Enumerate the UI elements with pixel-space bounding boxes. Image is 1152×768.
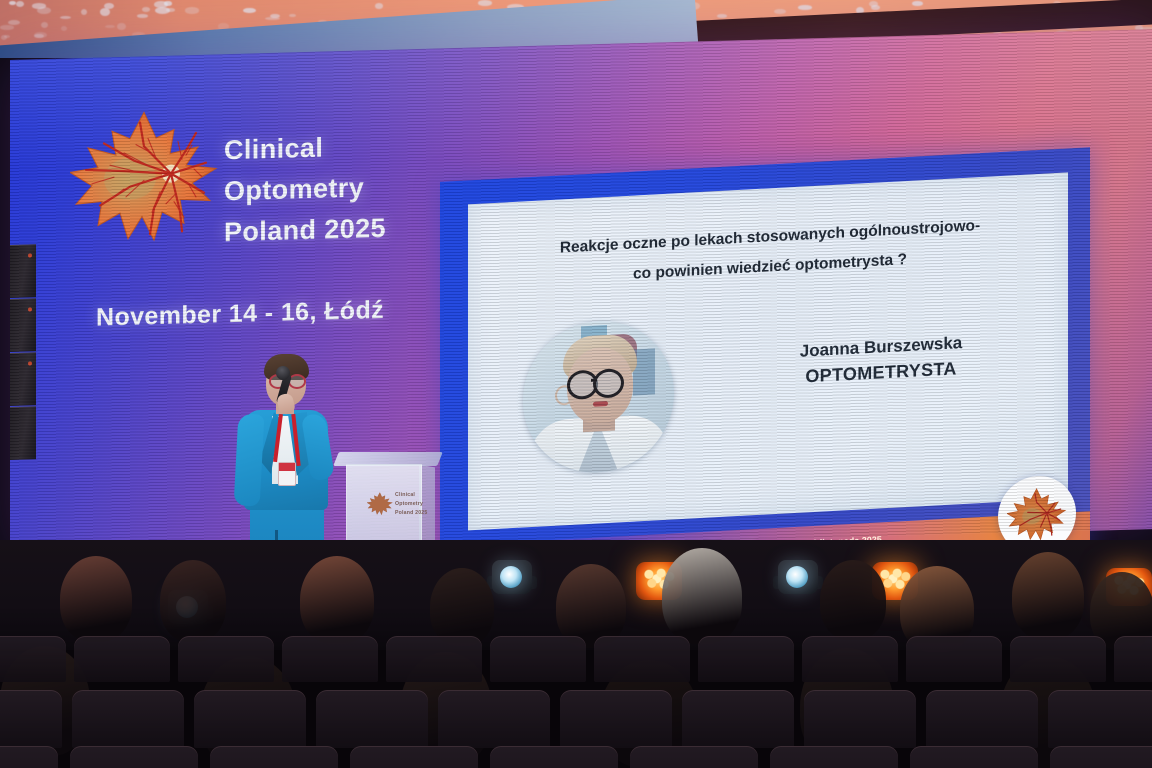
portrait-glasses-right (593, 368, 624, 399)
maple-leaf-retina-logo (70, 106, 220, 250)
ceiling-light-dot (105, 25, 115, 28)
audience-seat (906, 636, 1002, 682)
audience-seat (802, 636, 898, 682)
slide-speaker-role: OPTOMETRYSTA (718, 354, 1044, 392)
audience-seat (74, 636, 170, 682)
ceiling-light-dot (774, 9, 786, 14)
portrait-wall-art (581, 325, 607, 360)
lectern-text: Clinical Optometry Poland 2025 (395, 491, 429, 518)
ceiling-light-dot (185, 7, 200, 13)
brand-title-line-1: Clinical (224, 123, 474, 171)
ceiling-light-dot (798, 5, 812, 9)
conference-photo: Clinical Optometry Poland 2025 November … (0, 0, 1152, 768)
audience-seat (72, 690, 184, 748)
audience-seat (386, 636, 482, 682)
brand-title-line-2: Optometry (224, 164, 474, 212)
pa-status-led (28, 253, 32, 257)
slide-title-line-1: Reakcje oczne po lekach stosowanych ogól… (492, 208, 1048, 268)
ceiling-light-dot (37, 7, 51, 14)
audience-seat (210, 746, 338, 768)
pa-status-led (28, 307, 32, 311)
audience-member (430, 568, 494, 646)
audience-seat (770, 746, 898, 768)
audience-area (0, 540, 1152, 768)
audience-member (160, 560, 226, 642)
portrait-lips (593, 401, 608, 407)
ceiling-light-dot (912, 1, 923, 5)
ceiling-light-dot (375, 3, 383, 8)
lectern-text-line-3: Poland 2025 (395, 509, 429, 518)
ceiling-light-dot (155, 7, 170, 14)
audience-seat (698, 636, 794, 682)
audience-seat (560, 690, 672, 748)
pa-speaker-box (10, 244, 36, 298)
audience-seat (0, 636, 66, 682)
audience-member (820, 560, 886, 640)
audience-member (60, 556, 132, 642)
portrait-white-coat (529, 414, 669, 477)
line-array-speaker-stack (10, 244, 36, 565)
audience-member (662, 548, 742, 644)
pa-speaker-box (10, 352, 36, 406)
pa-speaker-box (10, 298, 36, 352)
portrait-glasses-bridge (591, 379, 597, 382)
audience-seat (0, 746, 58, 768)
lectern-text-line-1: Clinical (395, 491, 429, 500)
moving-head-spotlight (492, 560, 532, 594)
audience-seat (1048, 690, 1152, 748)
portrait-earring (555, 385, 574, 406)
slide-content-area: Reakcje oczne po lekach stosowanych ogól… (468, 172, 1068, 530)
badge-header (279, 463, 295, 471)
audience-seat (490, 746, 618, 768)
ceiling-light-dot (41, 22, 48, 28)
audience-seat (282, 636, 378, 682)
ceiling-light-dot (9, 1, 16, 5)
ceiling-light-dot (0, 25, 14, 30)
portrait-hair (563, 333, 637, 379)
ceiling-light-dot (289, 14, 296, 18)
slide-title-line-2: co powinien wiedzieć optometrysta ? (492, 238, 1048, 298)
audience-seat (316, 690, 428, 748)
audience-member (1012, 552, 1084, 640)
ceiling-light-dot (81, 9, 87, 15)
audience-seat (490, 636, 586, 682)
ceiling-light-dot (142, 7, 149, 12)
presenter-badge (278, 462, 296, 486)
speaker-portrait-photo (523, 317, 674, 476)
ceiling-light-dot (270, 14, 279, 18)
audience-seat (910, 746, 1038, 768)
portrait-wall-art (633, 348, 655, 395)
audience-seat (1010, 636, 1106, 682)
audience-seat (1050, 746, 1152, 768)
portrait-wall-art (607, 333, 637, 369)
audience-seat (926, 690, 1038, 748)
conference-branding: Clinical Optometry Poland 2025 November … (70, 100, 470, 351)
portrait-coat-vee (575, 420, 621, 476)
ceiling-light-dot (871, 5, 880, 9)
pa-speaker-box (10, 406, 36, 460)
pa-status-led (28, 361, 32, 365)
presentation-slide: Reakcje oczne po lekach stosowanych ogól… (440, 147, 1090, 594)
ceiling-light-dot (4, 35, 10, 38)
audience-seat (804, 690, 916, 748)
audience-seat (630, 746, 758, 768)
lectern-text-line-2: Optometry (395, 500, 429, 509)
audience-member (300, 556, 374, 644)
portrait-neck (583, 405, 615, 433)
audience-seat (0, 690, 62, 748)
audience-seat (178, 636, 274, 682)
ceiling-light-dot (243, 8, 257, 14)
ceiling-light-dot (34, 32, 47, 38)
portrait-glasses-left (567, 369, 598, 400)
ceiling-light-dot (164, 1, 172, 5)
brand-title: Clinical Optometry Poland 2025 (224, 123, 474, 253)
ceiling-light-dot (100, 8, 110, 16)
audience-seat (438, 690, 550, 748)
brand-title-line-3: Poland 2025 (224, 205, 474, 253)
slide-speaker-name: Joanna Burszewska (718, 326, 1044, 369)
audience-seat (682, 690, 794, 748)
ceiling-light-dot (137, 14, 148, 17)
portrait-background (523, 317, 674, 476)
audience-seat (594, 636, 690, 682)
ceiling-light-dot (16, 1, 24, 7)
presenter-arm-left (234, 413, 265, 506)
audience-seat (350, 746, 478, 768)
slide-title: Reakcje oczne po lekach stosowanych ogól… (492, 208, 1048, 298)
ceiling-light-dot (478, 0, 492, 5)
audience-seat (1114, 636, 1152, 682)
lectern-logo (367, 491, 393, 517)
portrait-face (567, 346, 633, 426)
audience-seat (194, 690, 306, 748)
led-video-wall: Clinical Optometry Poland 2025 November … (10, 29, 1152, 560)
ceiling-light-dot (117, 23, 126, 30)
ceiling-light-dot (61, 26, 68, 31)
brand-date-line: November 14 - 16, Łódź (96, 293, 476, 332)
ceiling-light-dot (60, 16, 71, 19)
audience-seat (70, 746, 198, 768)
ceiling-light-dot (717, 14, 727, 18)
moving-head-spotlight (778, 560, 818, 594)
